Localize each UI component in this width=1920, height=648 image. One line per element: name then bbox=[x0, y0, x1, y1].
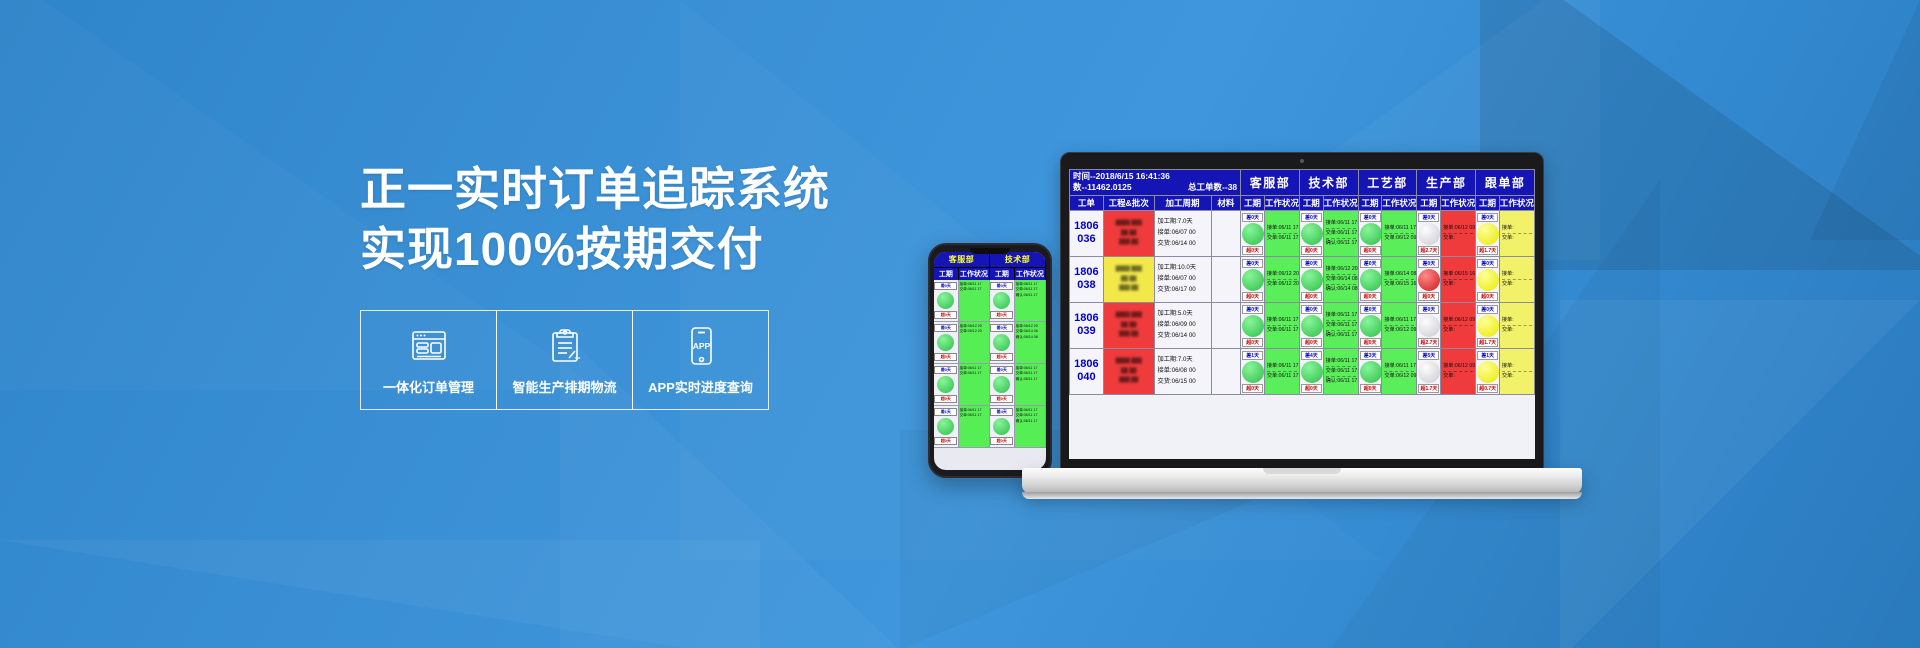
status-line: 接单:06/14 08 bbox=[1384, 270, 1414, 280]
cycle-days: 加工期:5.0天 bbox=[1158, 309, 1208, 320]
svg-text:APP: APP bbox=[692, 341, 710, 351]
status-line: 交单:06/11 17 bbox=[1326, 229, 1356, 239]
status-dot-icon bbox=[1242, 223, 1264, 245]
table-top-header: 时间--2018/6/15 16:41:36 数--11462.0125 总工单… bbox=[1070, 170, 1535, 196]
work-status-cell: 接单:交单: bbox=[1499, 348, 1534, 394]
overrun-badge: 超0天 bbox=[1242, 338, 1263, 347]
phone-status-line: 交单:06/11 17 bbox=[960, 371, 988, 376]
status-dot-icon bbox=[1418, 223, 1440, 245]
status-line: 接单:06/11 17 bbox=[1384, 362, 1414, 372]
status-dot-icon bbox=[1360, 223, 1382, 245]
gap-badge: 差0天 bbox=[1360, 259, 1381, 268]
phone-gap-badge: 差0天 bbox=[990, 282, 1013, 290]
duration-cell: 差0天超0天 bbox=[1476, 256, 1500, 302]
gap-badge: 差0天 bbox=[1360, 213, 1381, 222]
page-title: 正一实时订单追踪系统 实现100%按期交付 bbox=[360, 160, 880, 280]
duration-cell: 差1天超0.7天 bbox=[1476, 348, 1500, 394]
laptop-foot bbox=[1022, 492, 1582, 499]
status-line: 接单:06/11 17 bbox=[1384, 224, 1414, 234]
project-batch-redacted: ████ █████ █████ ██ bbox=[1105, 219, 1153, 248]
duration-cell: 差0天超0天 bbox=[1417, 256, 1441, 302]
phone-status-line: 交单:06/11 17 bbox=[960, 287, 988, 292]
duration-cell: 差0天超2.7天 bbox=[1417, 302, 1441, 348]
phone-col-duration-1: 工期 bbox=[934, 267, 959, 280]
status-dot-icon bbox=[937, 334, 954, 351]
feature-label: APP实时进度查询 bbox=[648, 377, 753, 396]
status-dot-icon bbox=[1360, 315, 1382, 337]
status-line: 接单:06/11 17 bbox=[1326, 219, 1356, 229]
order-no-line-2: 040 bbox=[1071, 371, 1102, 384]
order-tracking-table: 时间--2018/6/15 16:41:36 数--11462.0125 总工单… bbox=[1069, 169, 1535, 395]
status-line: 接单:06/11 17 bbox=[1326, 311, 1356, 321]
table-row[interactable]: 1806039████ █████ █████ ██加工期:5.0天接单:06/… bbox=[1070, 302, 1535, 348]
status-dot-icon bbox=[1477, 315, 1499, 337]
status-dot-icon bbox=[993, 376, 1010, 393]
feature-card-app-progress[interactable]: APP APP实时进度查询 bbox=[632, 310, 769, 410]
process-cycle-cell: 加工期:7.0天接单:06/07 00交货:06/14 00 bbox=[1154, 210, 1211, 256]
gap-badge: 差0天 bbox=[1477, 213, 1498, 222]
order-no-line-2: 038 bbox=[1071, 279, 1102, 292]
work-status-cell: 接单:06/12 20交单:06/12 20 bbox=[1264, 256, 1299, 302]
status-line: 交单:06/11 17 bbox=[1326, 367, 1356, 377]
gap-badge: 差0天 bbox=[1360, 305, 1381, 314]
col-status-tech: 工作状况 bbox=[1323, 195, 1358, 210]
overrun-badge: 超1.7天 bbox=[1418, 384, 1439, 393]
status-line: 接单:06/11 17 bbox=[1267, 224, 1297, 234]
process-cycle-cell: 加工期:5.0天接单:06/09 00交货:06/14 00 bbox=[1154, 302, 1211, 348]
duration-cell: 差0天超0天 bbox=[1241, 302, 1265, 348]
status-line: 交单:06/15 16 bbox=[1384, 280, 1414, 289]
cycle-days: 加工期:7.0天 bbox=[1158, 355, 1208, 366]
overrun-badge: 超0天 bbox=[1360, 384, 1381, 393]
overrun-badge: 超0天 bbox=[1360, 246, 1381, 255]
clipboard-schedule-icon bbox=[547, 323, 583, 369]
status-dot-icon bbox=[1360, 269, 1382, 291]
feature-list: 一体化订单管理 智能生产排期物流 bbox=[360, 310, 880, 410]
duration-cell: 差3天超0天 bbox=[1358, 348, 1382, 394]
status-line: 交单:06/11 17 bbox=[1267, 372, 1297, 381]
project-batch-cell: ████ █████ █████ ██ bbox=[1103, 256, 1154, 302]
laptop-base-notch bbox=[1263, 468, 1341, 474]
phone-gap-badge: 差0天 bbox=[934, 324, 957, 332]
phone-status-cell: 接单:06/11 17交单:06/11 17 bbox=[959, 280, 990, 321]
gap-badge: 差0天 bbox=[1418, 259, 1439, 268]
status-line: 交单:06/12 09 bbox=[1384, 372, 1414, 381]
overrun-badge: 超0天 bbox=[1360, 292, 1381, 301]
laptop-mockup: 时间--2018/6/15 16:41:36 数--11462.0125 总工单… bbox=[1022, 152, 1582, 512]
overrun-badge: 超0天 bbox=[1301, 384, 1322, 393]
gap-badge: 差0天 bbox=[1242, 259, 1263, 268]
overrun-badge: 超1.7天 bbox=[1477, 338, 1498, 347]
col-order-no: 工单 bbox=[1070, 195, 1104, 210]
phone-duration-cell: 差0天超0天 bbox=[934, 280, 959, 321]
phone-overrun-badge: 超0天 bbox=[990, 395, 1013, 403]
phone-overrun-badge: 超0天 bbox=[934, 437, 957, 445]
work-status-cell: 接单:06/12 20交单:06/14 08确认:06/14 08 bbox=[1323, 256, 1358, 302]
order-no-line-1: 1806 bbox=[1071, 220, 1102, 233]
gap-badge: 差0天 bbox=[1301, 259, 1322, 268]
duration-cell: 差0天超0天 bbox=[1241, 256, 1265, 302]
col-duration-prod: 工期 bbox=[1417, 195, 1441, 210]
status-line: 确认:06/11 17 bbox=[1326, 331, 1356, 340]
banner-copy: 正一实时订单追踪系统 实现100%按期交付 bbox=[360, 160, 880, 410]
order-number-cell: 1806039 bbox=[1070, 302, 1104, 348]
cycle-delivery: 交货:06/15 00 bbox=[1158, 377, 1208, 388]
overrun-badge: 超2.7天 bbox=[1418, 246, 1439, 255]
phone-overrun-badge: 超0天 bbox=[990, 311, 1013, 319]
status-line: 接单:06/11 17 bbox=[1326, 357, 1356, 367]
phone-gap-badge: 差0天 bbox=[934, 366, 957, 374]
duration-cell: 差0天超1.7天 bbox=[1476, 302, 1500, 348]
status-dot-icon bbox=[1301, 223, 1323, 245]
phone-duration-cell: 差4天超0天 bbox=[990, 406, 1015, 447]
order-no-line-2: 039 bbox=[1071, 325, 1102, 338]
work-status-cell: 接单:06/12 09交单: bbox=[1441, 302, 1476, 348]
status-line: 接单:06/15 16 bbox=[1443, 270, 1473, 280]
duration-cell: 差1天超0天 bbox=[1241, 348, 1265, 394]
status-line: 接单:06/11 17 bbox=[1267, 362, 1297, 372]
overrun-badge: 超1.7天 bbox=[1477, 246, 1498, 255]
work-status-cell: 接单:06/14 08交单:06/15 16 bbox=[1382, 256, 1417, 302]
process-cycle-cell: 加工期:7.0天接单:06/08 00交货:06/15 00 bbox=[1154, 348, 1211, 394]
status-line: 交单: bbox=[1502, 372, 1532, 381]
phone-status-line: 交单:06/12 20 bbox=[960, 329, 988, 334]
status-line: 交单: bbox=[1443, 234, 1473, 243]
feature-label: 一体化订单管理 bbox=[383, 377, 474, 396]
project-batch-redacted: ████ █████ █████ ██ bbox=[1105, 311, 1153, 340]
overrun-badge: 超0天 bbox=[1477, 292, 1498, 301]
dept-header-process: 工艺部 bbox=[1358, 170, 1417, 196]
gap-badge: 差0天 bbox=[1242, 305, 1263, 314]
phone-gap-badge: 差0天 bbox=[990, 324, 1013, 332]
status-dot-icon bbox=[1242, 361, 1264, 383]
dept-header-production: 生产部 bbox=[1417, 170, 1476, 196]
duration-cell: 差0天超0天 bbox=[1241, 210, 1265, 256]
status-line: 确认:06/14 08 bbox=[1326, 285, 1356, 294]
dashboard-info: 时间--2018/6/15 16:41:36 数--11462.0125 总工单… bbox=[1070, 170, 1241, 196]
status-dot-icon bbox=[993, 292, 1010, 309]
project-batch-cell: ████ █████ █████ ██ bbox=[1103, 302, 1154, 348]
status-line: 接单:06/12 20 bbox=[1267, 270, 1297, 280]
phone-overrun-badge: 超0天 bbox=[934, 395, 957, 403]
work-status-cell: 接单:06/11 17交单:06/11 17确认:06/11 17 bbox=[1323, 302, 1358, 348]
status-line: 交单:06/11 17 bbox=[1267, 326, 1297, 335]
status-dot-icon bbox=[993, 418, 1010, 435]
status-dot-icon bbox=[993, 334, 1010, 351]
col-status-cs: 工作状况 bbox=[1264, 195, 1299, 210]
dept-header-merchandising: 跟单部 bbox=[1476, 170, 1535, 196]
col-status-proc: 工作状况 bbox=[1382, 195, 1417, 210]
status-dot-icon bbox=[1418, 315, 1440, 337]
status-dot-icon bbox=[1418, 361, 1440, 383]
order-number-cell: 1806040 bbox=[1070, 348, 1104, 394]
work-status-cell: 接单:06/12 09交单: bbox=[1441, 348, 1476, 394]
overrun-badge: 超0天 bbox=[1242, 292, 1263, 301]
work-status-cell: 接单:06/15 16交单: bbox=[1441, 256, 1476, 302]
table-row[interactable]: 1806038████ █████ █████ ██加工期:10.0天接单:06… bbox=[1070, 256, 1535, 302]
gap-badge: 差3天 bbox=[1360, 351, 1381, 360]
gap-badge: 差0天 bbox=[1301, 213, 1322, 222]
status-line: 交单:06/11 17 bbox=[1267, 234, 1297, 243]
project-batch-redacted: ████ █████ █████ ██ bbox=[1105, 357, 1153, 386]
feature-card-order-management[interactable]: 一体化订单管理 bbox=[360, 310, 497, 410]
table-body: 1806036████ █████ █████ ██加工期:7.0天接单:06/… bbox=[1070, 210, 1535, 394]
phone-col-status-1: 工作状况 bbox=[959, 267, 990, 280]
status-line: 确认:06/11 17 bbox=[1326, 377, 1356, 386]
status-line: 交单:06/12 20 bbox=[1267, 280, 1297, 289]
phone-overrun-badge: 超0天 bbox=[934, 311, 957, 319]
dashboard-card-icon bbox=[409, 323, 449, 369]
order-number-cell: 1806038 bbox=[1070, 256, 1104, 302]
duration-cell: 差0天超0天 bbox=[1299, 210, 1323, 256]
duration-cell: 差0天超0天 bbox=[1299, 302, 1323, 348]
work-status-cell: 接单:06/11 17交单:06/11 17 bbox=[1264, 302, 1299, 348]
phone-status-cell: 接单:06/11 17交单:06/11 17 bbox=[959, 364, 990, 405]
laptop-screen: 时间--2018/6/15 16:41:36 数--11462.0125 总工单… bbox=[1069, 169, 1535, 459]
headline-line-1: 正一实时订单追踪系统 bbox=[360, 163, 830, 215]
phone-notch bbox=[970, 248, 1010, 254]
phone-duration-cell: 差0天超0天 bbox=[990, 322, 1015, 363]
status-line: 接单:06/12 09 bbox=[1443, 316, 1473, 326]
status-line: 接单:06/11 17 bbox=[1267, 316, 1297, 326]
cycle-delivery: 交货:06/14 00 bbox=[1158, 331, 1208, 342]
duration-cell: 差0天超0天 bbox=[1299, 256, 1323, 302]
dashboard-datetime: 时间--2018/6/15 16:41:36 bbox=[1073, 171, 1237, 182]
dept-header-technical: 技术部 bbox=[1299, 170, 1358, 196]
status-dot-icon bbox=[1301, 269, 1323, 291]
order-number-cell: 1806036 bbox=[1070, 210, 1104, 256]
status-line: 接单:06/12 09 bbox=[1443, 362, 1473, 372]
order-no-line-1: 1806 bbox=[1071, 358, 1102, 371]
cycle-received: 接单:06/07 00 bbox=[1158, 274, 1208, 285]
table-row[interactable]: 1806036████ █████ █████ ██加工期:7.0天接单:06/… bbox=[1070, 210, 1535, 256]
table-column-header: 工单 工程&批次 加工周期 材料 工期 工作状况 工期 工作状况 工期 工作状况… bbox=[1070, 195, 1535, 210]
duration-cell: 差0天超2.7天 bbox=[1417, 210, 1441, 256]
order-no-line-2: 036 bbox=[1071, 233, 1102, 246]
bg-polygon bbox=[1810, 0, 1920, 240]
col-duration-merch: 工期 bbox=[1476, 195, 1500, 210]
gap-badge: 差1天 bbox=[1477, 351, 1498, 360]
dashboard-serial: 数--11462.0125 bbox=[1073, 182, 1132, 193]
material-cell bbox=[1211, 302, 1241, 348]
col-project-batch: 工程&批次 bbox=[1103, 195, 1154, 210]
order-no-line-1: 1806 bbox=[1071, 266, 1102, 279]
work-status-cell: 接单:交单: bbox=[1499, 210, 1534, 256]
status-line: 接单: bbox=[1502, 270, 1532, 280]
work-status-cell: 接单:06/11 17交单:06/12 09 bbox=[1382, 348, 1417, 394]
status-line: 交单: bbox=[1502, 326, 1532, 335]
status-line: 接单:06/11 17 bbox=[1384, 316, 1414, 326]
status-dot-icon bbox=[1477, 361, 1499, 383]
phone-duration-cell: 差0天超0天 bbox=[934, 364, 959, 405]
webcam-icon bbox=[1300, 159, 1304, 163]
status-line: 交单:06/12 09 bbox=[1384, 234, 1414, 243]
col-material: 材料 bbox=[1211, 195, 1241, 210]
phone-gap-badge: 差4天 bbox=[990, 408, 1013, 416]
overrun-badge: 超2.7天 bbox=[1418, 338, 1439, 347]
col-duration-proc: 工期 bbox=[1358, 195, 1382, 210]
overrun-badge: 超0天 bbox=[1301, 338, 1322, 347]
duration-cell: 差0天超0天 bbox=[1358, 302, 1382, 348]
status-line: 交单:06/11 17 bbox=[1326, 321, 1356, 331]
order-no-line-1: 1806 bbox=[1071, 312, 1102, 325]
status-line: 确认:06/11 17 bbox=[1326, 239, 1356, 248]
dept-header-customer-service: 客服部 bbox=[1241, 170, 1300, 196]
overrun-badge: 超0天 bbox=[1360, 338, 1381, 347]
phone-overrun-badge: 超0天 bbox=[990, 353, 1013, 361]
overrun-badge: 超0天 bbox=[1301, 246, 1322, 255]
cycle-delivery: 交货:06/14 00 bbox=[1158, 239, 1208, 250]
status-line: 交单: bbox=[1502, 234, 1532, 243]
laptop-base bbox=[1022, 468, 1582, 494]
status-line: 接单:06/12 20 bbox=[1326, 265, 1356, 275]
phone-status-cell: 接单:06/11 17交单:06/11 17 bbox=[959, 406, 990, 447]
gap-badge: 差5天 bbox=[1418, 351, 1439, 360]
phone-status-cell: 接单:06/12 20交单:06/12 20 bbox=[959, 322, 990, 363]
overrun-badge: 超0天 bbox=[1242, 246, 1263, 255]
status-dot-icon bbox=[1477, 223, 1499, 245]
col-status-merch: 工作状况 bbox=[1499, 195, 1534, 210]
status-line: 接单: bbox=[1502, 316, 1532, 326]
work-status-cell: 接单:交单: bbox=[1499, 302, 1534, 348]
gap-badge: 差0天 bbox=[1477, 259, 1498, 268]
status-line: 接单: bbox=[1502, 362, 1532, 372]
status-line: 交单: bbox=[1502, 280, 1532, 289]
promo-banner: 正一实时订单追踪系统 实现100%按期交付 bbox=[0, 0, 1920, 648]
headline-line-2: 实现100%按期交付 bbox=[360, 220, 880, 280]
duration-cell: 差4天超0天 bbox=[1299, 348, 1323, 394]
gap-badge: 差0天 bbox=[1301, 305, 1322, 314]
project-batch-cell: ████ █████ █████ ██ bbox=[1103, 210, 1154, 256]
status-dot-icon bbox=[937, 292, 954, 309]
phone-overrun-badge: 超0天 bbox=[934, 353, 957, 361]
phone-dept-customer-service: 客服部 bbox=[934, 252, 990, 267]
material-cell bbox=[1211, 348, 1241, 394]
status-line: 交单: bbox=[1443, 372, 1473, 381]
work-status-cell: 接单:06/12 09交单: bbox=[1441, 210, 1476, 256]
status-dot-icon bbox=[1301, 315, 1323, 337]
col-status-prod: 工作状况 bbox=[1441, 195, 1476, 210]
phone-duration-cell: 差1天超0天 bbox=[934, 406, 959, 447]
material-cell bbox=[1211, 210, 1241, 256]
gap-badge: 差1天 bbox=[1242, 351, 1263, 360]
status-dot-icon bbox=[1418, 269, 1440, 291]
cycle-received: 接单:06/08 00 bbox=[1158, 366, 1208, 377]
laptop-lid: 时间--2018/6/15 16:41:36 数--11462.0125 总工单… bbox=[1060, 152, 1544, 470]
gap-badge: 差0天 bbox=[1418, 213, 1439, 222]
work-status-cell: 接单:06/11 17交单:06/11 17 bbox=[1264, 348, 1299, 394]
status-dot-icon bbox=[1360, 361, 1382, 383]
work-status-cell: 接单:06/11 17交单:06/11 17确认:06/11 17 bbox=[1323, 348, 1358, 394]
phone-duration-cell: 差0天超0天 bbox=[990, 364, 1015, 405]
duration-cell: 差0天超0天 bbox=[1358, 256, 1382, 302]
cycle-days: 加工期:10.0天 bbox=[1158, 263, 1208, 274]
cycle-delivery: 交货:06/17 00 bbox=[1158, 285, 1208, 296]
phone-duration-cell: 差0天超0天 bbox=[990, 280, 1015, 321]
status-dot-icon bbox=[1242, 269, 1264, 291]
overrun-badge: 超0天 bbox=[1301, 292, 1322, 301]
status-line: 交单: bbox=[1443, 280, 1473, 289]
cycle-received: 接单:06/07 00 bbox=[1158, 228, 1208, 239]
gap-badge: 差0天 bbox=[1418, 305, 1439, 314]
phone-gap-badge: 差0天 bbox=[990, 366, 1013, 374]
cycle-received: 接单:06/09 00 bbox=[1158, 320, 1208, 331]
status-dot-icon bbox=[937, 418, 954, 435]
mobile-app-icon: APP bbox=[686, 323, 716, 369]
status-line: 交单:06/14 08 bbox=[1326, 275, 1356, 285]
project-batch-redacted: ████ █████ █████ ██ bbox=[1105, 265, 1153, 294]
status-line: 交单:06/12 09 bbox=[1384, 326, 1414, 335]
col-duration-tech: 工期 bbox=[1299, 195, 1323, 210]
col-process-cycle: 加工周期 bbox=[1154, 195, 1211, 210]
gap-badge: 差0天 bbox=[1242, 213, 1263, 222]
project-batch-cell: ████ █████ █████ ██ bbox=[1103, 348, 1154, 394]
status-line: 接单: bbox=[1502, 224, 1532, 234]
cycle-days: 加工期:7.0天 bbox=[1158, 217, 1208, 228]
status-dot-icon bbox=[1477, 269, 1499, 291]
bg-polygon bbox=[0, 540, 760, 648]
process-cycle-cell: 加工期:10.0天接单:06/07 00交货:06/17 00 bbox=[1154, 256, 1211, 302]
gap-badge: 差4天 bbox=[1301, 351, 1322, 360]
gap-badge: 差0天 bbox=[1477, 305, 1498, 314]
phone-gap-badge: 差1天 bbox=[934, 408, 957, 416]
status-dot-icon bbox=[937, 376, 954, 393]
duration-cell: 差5天超1.7天 bbox=[1417, 348, 1441, 394]
material-cell bbox=[1211, 256, 1241, 302]
dashboard-total-orders: 总工单数--38 bbox=[1188, 182, 1237, 193]
work-status-cell: 接单:06/11 17交单:06/11 17确认:06/11 17 bbox=[1323, 210, 1358, 256]
work-status-cell: 接单:06/11 17交单:06/12 09 bbox=[1382, 302, 1417, 348]
work-status-cell: 接单:06/11 17交单:06/11 17 bbox=[1264, 210, 1299, 256]
feature-label: 智能生产排期物流 bbox=[512, 377, 616, 396]
status-line: 接单:06/12 09 bbox=[1443, 224, 1473, 234]
phone-col-duration-2: 工期 bbox=[990, 267, 1015, 280]
col-duration-cs: 工期 bbox=[1241, 195, 1265, 210]
feature-card-production-schedule[interactable]: 智能生产排期物流 bbox=[496, 310, 633, 410]
overrun-badge: 超0天 bbox=[1242, 384, 1263, 393]
overrun-badge: 超0天 bbox=[1418, 292, 1439, 301]
status-dot-icon bbox=[1301, 361, 1323, 383]
table-row[interactable]: 1806040████ █████ █████ ██加工期:7.0天接单:06/… bbox=[1070, 348, 1535, 394]
status-dot-icon bbox=[1242, 315, 1264, 337]
phone-gap-badge: 差0天 bbox=[934, 282, 957, 290]
phone-duration-cell: 差0天超0天 bbox=[934, 322, 959, 363]
duration-cell: 差0天超0天 bbox=[1358, 210, 1382, 256]
duration-cell: 差0天超1.7天 bbox=[1476, 210, 1500, 256]
work-status-cell: 接单:交单: bbox=[1499, 256, 1534, 302]
phone-status-line: 交单:06/11 17 bbox=[960, 413, 988, 418]
overrun-badge: 超0.7天 bbox=[1477, 384, 1498, 393]
bg-polygon bbox=[1560, 300, 1920, 648]
phone-overrun-badge: 超0天 bbox=[990, 437, 1013, 445]
status-line: 交单: bbox=[1443, 326, 1473, 335]
work-status-cell: 接单:06/11 17交单:06/12 09 bbox=[1382, 210, 1417, 256]
